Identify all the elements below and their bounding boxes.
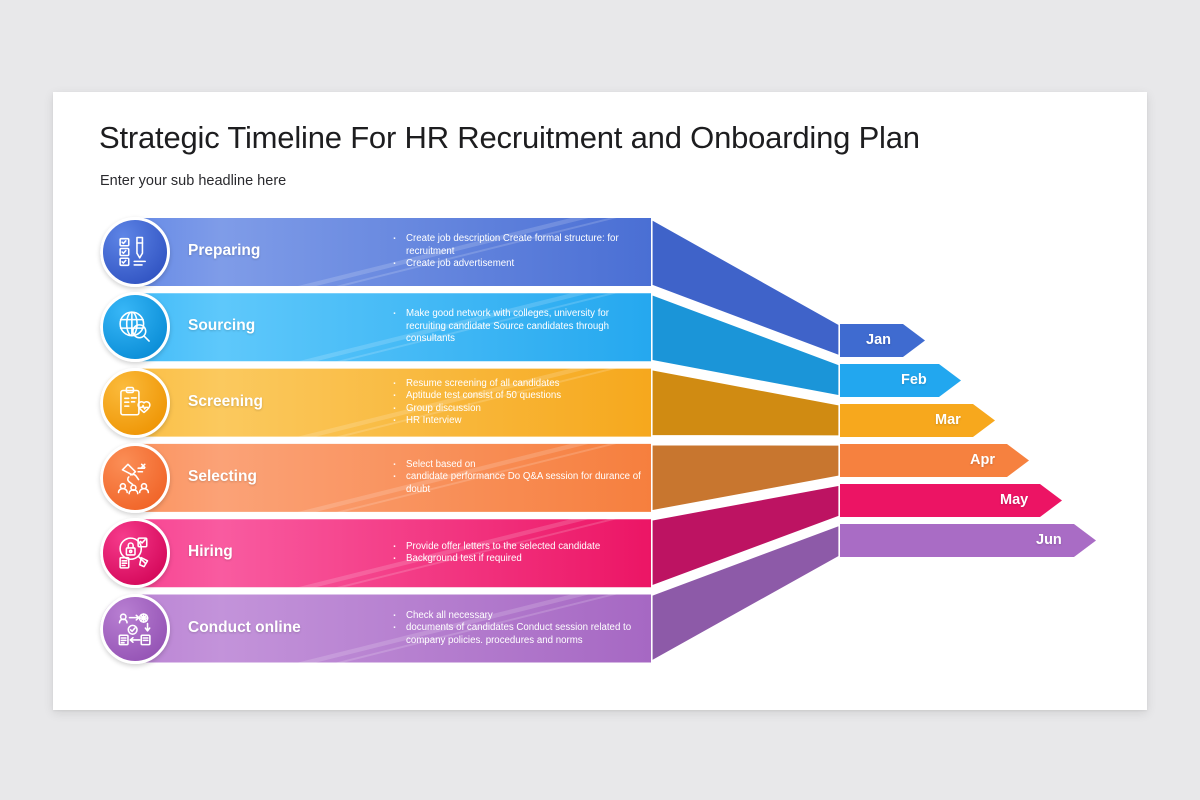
bullet-item: Create job description Create formal str…: [390, 233, 642, 258]
stage-bullets-selecting: Select based oncandidate performance Do …: [390, 459, 642, 497]
bullet-item: Select based on: [390, 459, 642, 472]
bullet-item: candidate performance Do Q&A session for…: [390, 471, 642, 496]
bullet-item: Check all necessary: [390, 610, 642, 623]
workflow-process-icon: [100, 594, 170, 664]
month-label-mar: Mar: [935, 412, 961, 428]
bullet-item: Provide offer letters to the selected ca…: [390, 541, 642, 554]
bullet-item: Background test if required: [390, 553, 642, 566]
month-arrow-group: [840, 324, 1096, 557]
month-arrow-apr[interactable]: [840, 444, 1029, 477]
clipboard-heart-icon: [100, 368, 170, 438]
bullet-item: HR Interview: [390, 415, 642, 428]
stage-bullets-hiring: Provide offer letters to the selected ca…: [390, 541, 642, 566]
month-label-apr: Apr: [970, 452, 995, 468]
slide-canvas: Strategic Timeline For HR Recruitment an…: [0, 0, 1200, 800]
month-label-jan: Jan: [866, 332, 891, 348]
month-label-feb: Feb: [901, 372, 927, 388]
stage-bullets-preparing: Create job description Create formal str…: [390, 233, 642, 271]
stage-bullets-screening: Resume screening of all candidatesAptitu…: [390, 378, 642, 428]
bullet-item: Aptitude test consist of 50 questions: [390, 390, 642, 403]
lock-search-document-icon: [100, 518, 170, 588]
stage-label-selecting: Selecting: [188, 468, 257, 486]
month-label-jun: Jun: [1036, 532, 1062, 548]
month-arrow-may[interactable]: [840, 484, 1062, 517]
globe-search-icon: [100, 292, 170, 362]
bullet-item: documents of candidates Conduct session …: [390, 622, 642, 647]
stage-label-hiring: Hiring: [188, 543, 233, 561]
hand-select-people-icon: [100, 443, 170, 513]
checklist-pen-icon: [100, 217, 170, 287]
bullet-item: Group discussion: [390, 403, 642, 416]
month-arrow-mar[interactable]: [840, 404, 995, 437]
connector-band-group: [651, 218, 840, 663]
stage-label-sourcing: Sourcing: [188, 317, 255, 335]
stage-label-screening: Screening: [188, 393, 263, 411]
stage-label-preparing: Preparing: [188, 242, 260, 260]
month-label-may: May: [1000, 492, 1028, 508]
bullet-item: Resume screening of all candidates: [390, 378, 642, 391]
stage-bullets-sourcing: Make good network with colleges, univers…: [390, 308, 642, 346]
stage-bullets-conduct-online: Check all necessarydocuments of candidat…: [390, 610, 642, 648]
stage-label-conduct-online: Conduct online: [188, 619, 301, 637]
bullet-item: Create job advertisement: [390, 258, 642, 271]
bullet-item: Make good network with colleges, univers…: [390, 308, 642, 346]
